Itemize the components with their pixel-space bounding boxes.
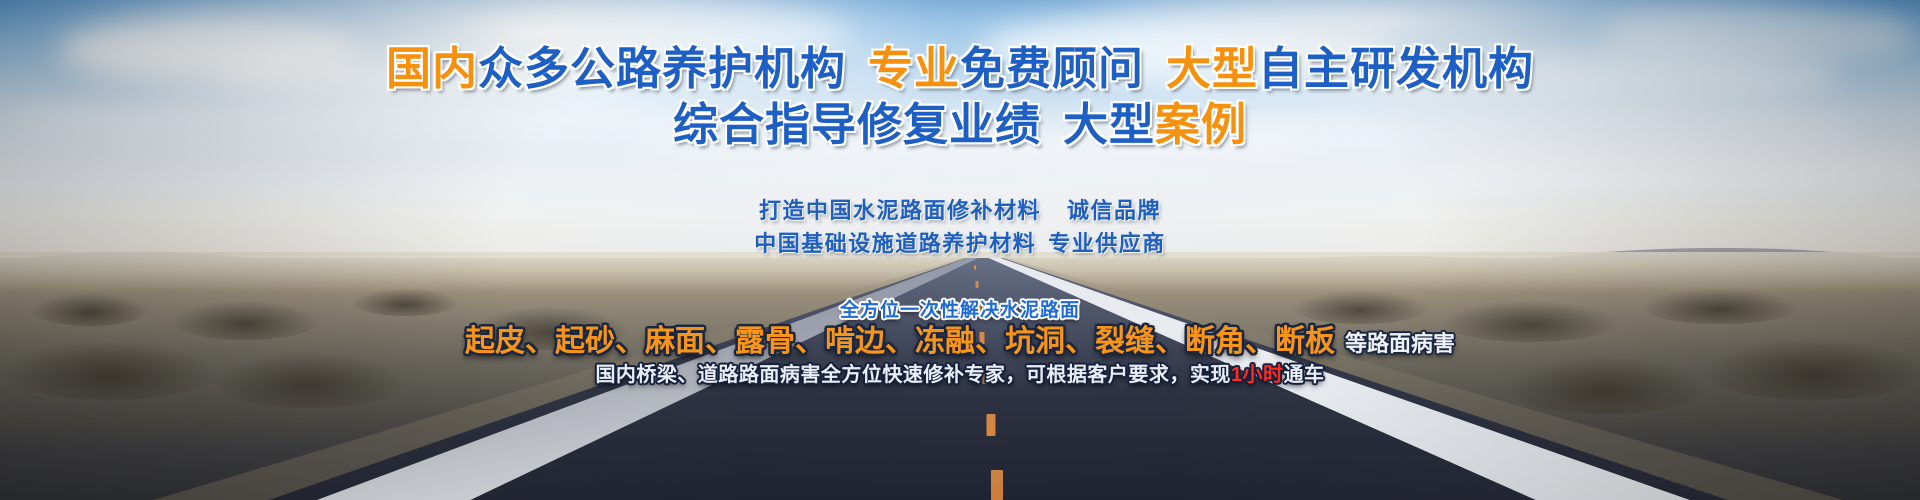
headline-seg-zhongduo: 众多公路养护机构 bbox=[478, 43, 846, 94]
headline-line-1: 国内众多公路养护机构专业免费顾问大型自主研发机构 bbox=[0, 43, 1920, 95]
headline-seg-daxing: 大型 bbox=[1166, 43, 1258, 94]
subtitle-2-primary: 中国基础设施道路养护材料 bbox=[754, 231, 1036, 256]
banner-text-layer: 国内众多公路养护机构专业免费顾问大型自主研发机构 综合指导修复业绩大型案例 打造… bbox=[0, 0, 1920, 500]
headline-line-2: 综合指导修复业绩大型案例 bbox=[0, 99, 1920, 151]
headline-seg-mianfei: 免费顾问 bbox=[960, 43, 1144, 94]
headline-seg-zizhu: 自主研发机构 bbox=[1258, 43, 1534, 94]
subtitle-line-2: 中国基础设施道路养护材料专业供应商 bbox=[0, 226, 1920, 258]
road-text-defects-suffix: 等路面病害 bbox=[1345, 331, 1455, 356]
subtitle-line-1: 打造中国水泥路面修补材料诚信品牌 bbox=[0, 193, 1920, 225]
headline-seg-zonghe: 综合指导修复业绩 bbox=[673, 99, 1041, 150]
road-text-highlight-one-hour: 1小时 bbox=[1231, 364, 1284, 386]
subtitle-1-primary: 打造中国水泥路面修补材料 bbox=[759, 198, 1041, 223]
headline-seg-zhuanye: 专业 bbox=[868, 43, 960, 94]
road-text-defects-line: 起皮、起砂、麻面、露骨、啃边、冻融、坑洞、裂缝、断角、断板等路面病害 bbox=[0, 316, 1920, 360]
road-text-closing-a: 国内桥梁、道路路面病害全方位快速修补专家，可根据客户要求，实现 bbox=[595, 364, 1231, 386]
headline-seg-daxing2: 大型 bbox=[1063, 99, 1155, 150]
headline-seg-guonei: 国内 bbox=[386, 43, 478, 94]
subtitle-2-secondary: 专业供应商 bbox=[1048, 231, 1166, 256]
road-text-closing-b: 通车 bbox=[1284, 364, 1325, 386]
promo-banner: 国内众多公路养护机构专业免费顾问大型自主研发机构 综合指导修复业绩大型案例 打造… bbox=[0, 0, 1920, 500]
headline-seg-anli: 案例 bbox=[1155, 99, 1247, 150]
road-text-defects: 起皮、起砂、麻面、露骨、啃边、冻融、坑洞、裂缝、断角、断板 bbox=[465, 325, 1335, 358]
subtitle-1-secondary: 诚信品牌 bbox=[1067, 198, 1161, 223]
road-text-closing-line: 国内桥梁、道路路面病害全方位快速修补专家，可根据客户要求，实现1小时通车 bbox=[0, 358, 1920, 387]
